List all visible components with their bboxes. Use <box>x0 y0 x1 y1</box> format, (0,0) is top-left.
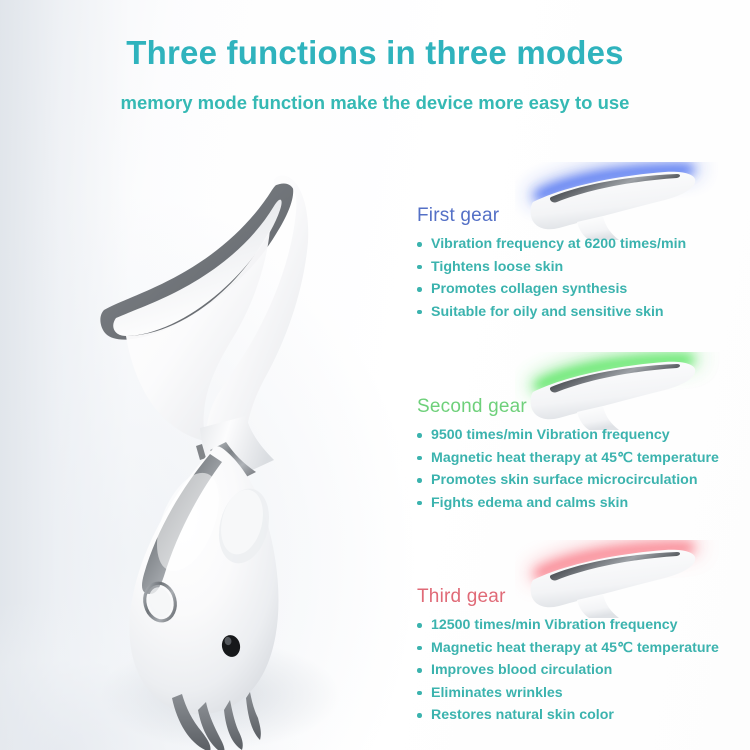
page-subtitle: memory mode function make the device mor… <box>0 92 750 114</box>
product-infographic: Three functions in three modes memory mo… <box>0 0 750 750</box>
list-item: Fights edema and calms skin <box>415 492 745 515</box>
list-item: Eliminates wrinkles <box>415 682 745 705</box>
gear-feature-list-third: 12500 times/min Vibration frequency Magn… <box>415 614 745 727</box>
device-head-outer <box>100 179 293 339</box>
list-item: 12500 times/min Vibration frequency <box>415 614 745 637</box>
list-item: Suitable for oily and sensitive skin <box>415 301 745 324</box>
device-loop-ring-inner <box>146 585 175 619</box>
device-body-highlight <box>144 464 231 580</box>
device-neck <box>200 416 274 484</box>
list-item: Magnetic heat therapy at 45℃ temperature <box>415 637 745 660</box>
list-item: Improves blood circulation <box>415 659 745 682</box>
list-item: Vibration frequency at 6200 times/min <box>415 233 745 256</box>
list-item: Magnetic heat therapy at 45℃ temperature <box>415 447 745 470</box>
device-neck-chrome-notch <box>196 444 206 460</box>
gear-block-first: First gear Vibration frequency at 6200 t… <box>415 205 745 323</box>
gear-block-second: Second gear 9500 times/min Vibration fre… <box>415 396 745 514</box>
device-power-button <box>220 633 242 658</box>
device-body <box>129 446 278 714</box>
device-oval-indent <box>212 483 277 568</box>
page-title: Three functions in three modes <box>0 34 750 72</box>
gear-heading-second: Second gear <box>417 396 745 418</box>
list-item: Promotes collagen synthesis <box>415 278 745 301</box>
device-illustration <box>60 150 410 750</box>
list-item: Tightens loose skin <box>415 256 745 279</box>
device-bottom-prongs <box>172 692 261 750</box>
device-neck-chrome-band <box>210 442 256 480</box>
gear-feature-list-first: Vibration frequency at 6200 times/min Ti… <box>415 233 745 323</box>
device-head-inner <box>113 200 281 336</box>
gear-heading-first: First gear <box>417 205 745 227</box>
list-item: 9500 times/min Vibration frequency <box>415 424 745 447</box>
device-loop-ring <box>141 580 179 624</box>
device-head-right <box>206 175 308 436</box>
device-head-throat <box>126 230 270 442</box>
background-floor-shadow <box>0 450 430 750</box>
device-power-button-glint <box>224 636 232 646</box>
device-body-side-rail <box>142 454 222 594</box>
product-device-image <box>60 150 410 750</box>
device-oval-indent-highlight <box>215 485 270 559</box>
gear-block-third: Third gear 12500 times/min Vibration fre… <box>415 586 745 727</box>
list-item: Promotes skin surface microcirculation <box>415 469 745 492</box>
gear-heading-third: Third gear <box>417 586 745 608</box>
gear-feature-list-second: 9500 times/min Vibration frequency Magne… <box>415 424 745 514</box>
list-item: Restores natural skin color <box>415 704 745 727</box>
